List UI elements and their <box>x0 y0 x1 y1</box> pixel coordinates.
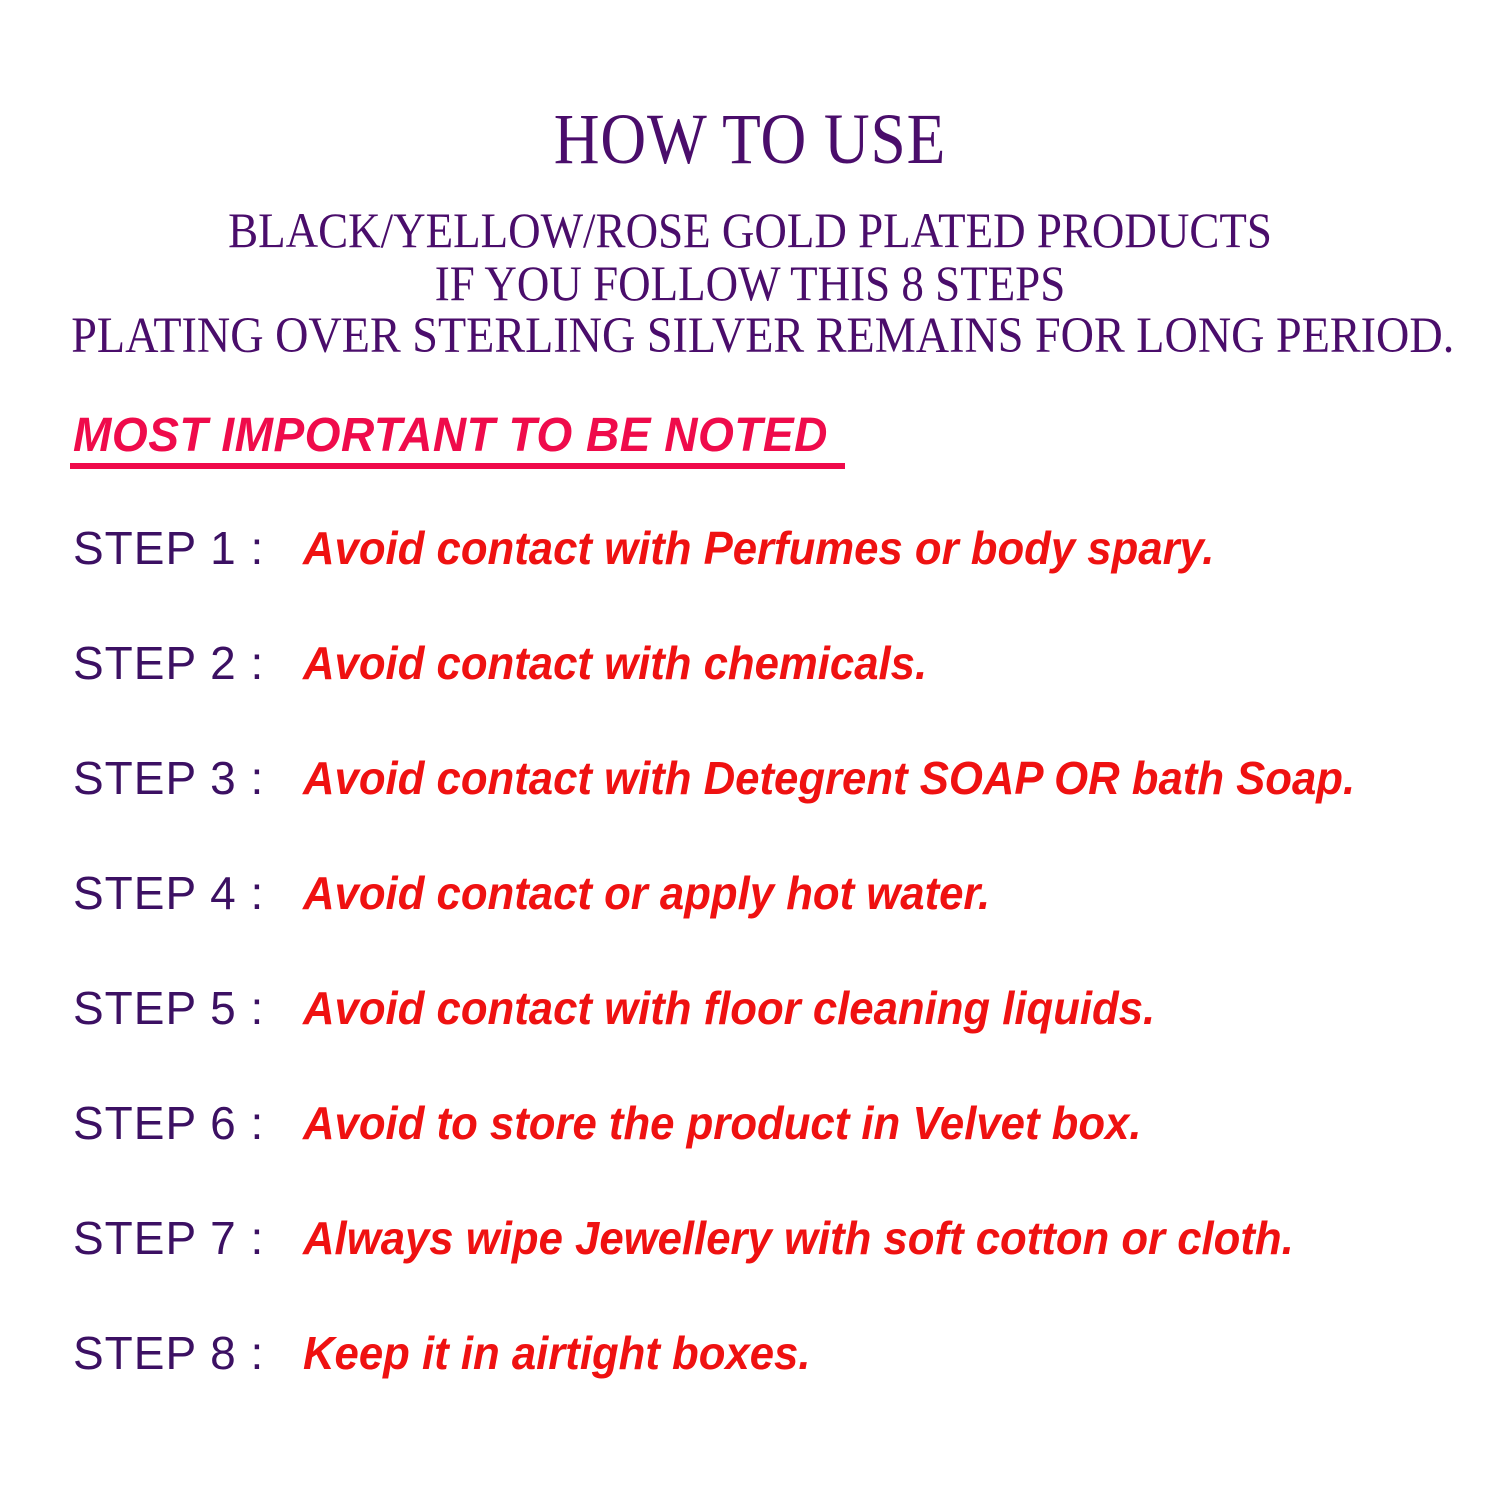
step-label: STEP 1 : <box>73 520 264 576</box>
step-row: STEP 4 : Avoid contact or apply hot wate… <box>0 865 1500 980</box>
step-label: STEP 7 : <box>73 1210 264 1266</box>
step-label: STEP 6 : <box>73 1095 264 1151</box>
step-text: Avoid contact with Perfumes or body spar… <box>303 520 1214 576</box>
subtitle-line-3: PLATING OVER STERLING SILVER REMAINS FOR… <box>71 310 1429 363</box>
step-row: STEP 8 : Keep it in airtight boxes. <box>0 1325 1500 1440</box>
subtitle-line-2: IF YOU FOLLOW THIS 8 STEPS <box>75 257 1425 310</box>
subtitle-group: BLACK/YELLOW/ROSE GOLD PLATED PRODUCTS I… <box>0 204 1500 363</box>
step-label: STEP 2 : <box>73 635 264 691</box>
subtitle-line-1: BLACK/YELLOW/ROSE GOLD PLATED PRODUCTS <box>75 204 1425 257</box>
step-row: STEP 7 : Always wipe Jewellery with soft… <box>0 1210 1500 1325</box>
step-row: STEP 2 : Avoid contact with chemicals. <box>0 635 1500 750</box>
step-label: STEP 8 : <box>73 1325 264 1381</box>
step-text: Avoid contact with Detegrent SOAP OR bat… <box>303 750 1355 806</box>
notice-heading-wrap: MOST IMPORTANT TO BE NOTED <box>73 408 859 464</box>
step-row: STEP 1 : Avoid contact with Perfumes or … <box>0 520 1500 635</box>
step-row: STEP 6 : Avoid to store the product in V… <box>0 1095 1500 1210</box>
heading-block: HOW TO USE BLACK/YELLOW/ROSE GOLD PLATED… <box>0 96 1500 363</box>
step-label: STEP 3 : <box>73 750 264 806</box>
step-text: Avoid contact or apply hot water. <box>303 865 990 921</box>
step-text: Always wipe Jewellery with soft cotton o… <box>303 1210 1294 1266</box>
step-row: STEP 3 : Avoid contact with Detegrent SO… <box>0 750 1500 865</box>
step-row: STEP 5 : Avoid contact with floor cleani… <box>0 980 1500 1095</box>
notice-heading: MOST IMPORTANT TO BE NOTED <box>73 408 828 464</box>
step-text: Avoid contact with floor cleaning liquid… <box>303 980 1155 1036</box>
steps-list: STEP 1 : Avoid contact with Perfumes or … <box>0 520 1500 1440</box>
step-text: Avoid contact with chemicals. <box>303 635 927 691</box>
step-text: Keep it in airtight boxes. <box>303 1325 810 1381</box>
step-text: Avoid to store the product in Velvet box… <box>303 1095 1141 1151</box>
notice-heading-underline <box>70 463 845 469</box>
step-label: STEP 5 : <box>73 980 264 1036</box>
how-to-use-infographic: HOW TO USE BLACK/YELLOW/ROSE GOLD PLATED… <box>0 0 1500 1500</box>
step-label: STEP 4 : <box>73 865 264 921</box>
page-title: HOW TO USE <box>90 96 1410 182</box>
